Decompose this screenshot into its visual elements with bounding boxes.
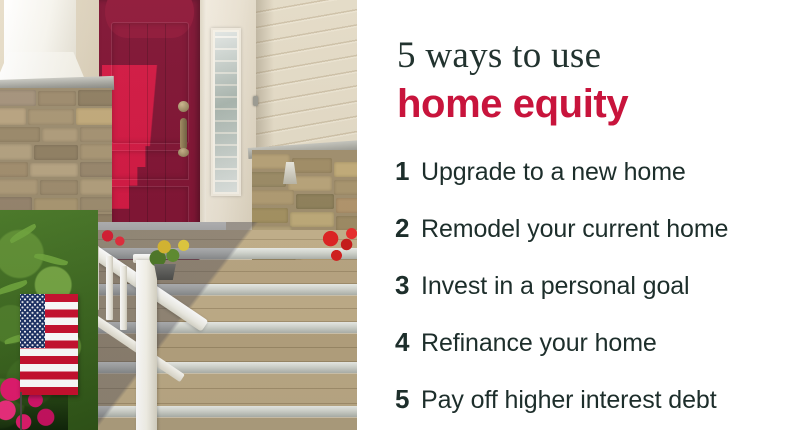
list-item-text: Refinance your home (421, 329, 657, 358)
content-panel: 5 ways to use home equity 1 Upgrade to a… (357, 0, 810, 430)
flag-stars (20, 294, 45, 348)
list-item-text: Upgrade to a new home (421, 158, 686, 187)
sidelight-window (211, 28, 241, 196)
list-item: 4 Refinance your home (357, 327, 810, 384)
door-panel-upper (111, 22, 189, 144)
list-item-number: 3 (395, 270, 421, 301)
sidelight-reflection (215, 32, 237, 192)
american-flag (20, 294, 78, 395)
list-item-text: Invest in a personal goal (421, 272, 690, 301)
newel-post (136, 260, 157, 430)
door-deadbolt-icon (178, 101, 189, 112)
list-item: 3 Invest in a personal goal (357, 270, 810, 327)
red-flowers-left (96, 226, 130, 252)
list-item: 5 Pay off higher interest debt (357, 384, 810, 430)
list-item-text: Remodel your current home (421, 215, 728, 244)
headline-line-2: home equity (397, 81, 628, 127)
list-item-number: 1 (395, 156, 421, 187)
tips-list: 1 Upgrade to a new home 2 Remodel your c… (357, 156, 810, 430)
red-flowers-right (318, 226, 357, 268)
flag-canton (20, 294, 45, 348)
flag-pole (20, 392, 22, 430)
doorbell-icon (253, 96, 258, 106)
list-item-number: 2 (395, 213, 421, 244)
infographic-root: 5 ways to use home equity 1 Upgrade to a… (0, 0, 810, 430)
list-item: 2 Remodel your current home (357, 213, 810, 270)
list-item: 1 Upgrade to a new home (357, 156, 810, 213)
list-item-number: 5 (395, 384, 421, 415)
list-item-text: Pay off higher interest debt (421, 386, 717, 415)
headline-line-1: 5 ways to use (397, 36, 601, 76)
list-item-number: 4 (395, 327, 421, 358)
house-entrance-photo (0, 0, 357, 430)
door-handle-icon (180, 118, 187, 150)
door-handle-plate (178, 148, 189, 157)
